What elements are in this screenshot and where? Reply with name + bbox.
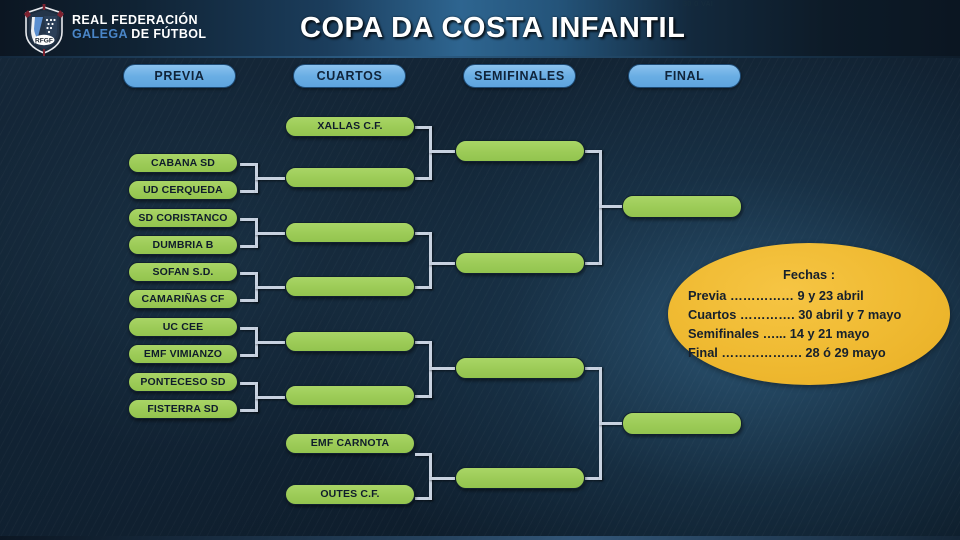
round-header-final[interactable]: FINAL [628, 64, 741, 88]
connector [255, 232, 285, 235]
final-pill-2[interactable] [622, 412, 742, 435]
cuartos-pill-3[interactable] [285, 222, 415, 243]
connector [429, 126, 432, 180]
cuartos-pill-2[interactable] [285, 167, 415, 188]
connector [599, 422, 624, 425]
dates-value-cuartos: 30 abril y 7 mayo [798, 305, 901, 324]
cuartos-pill-1-xallas-cf[interactable]: XALLAS C.F. [285, 116, 415, 137]
federation-line2-green: GALEGA [72, 27, 127, 41]
dates-label-previa: Previa …………… [688, 286, 794, 305]
team-pill-fisterra-sd[interactable]: FISTERRA SD [128, 399, 238, 419]
final-pill-1[interactable] [622, 195, 742, 218]
team-pill-emf-vimianzo[interactable]: EMF VIMIANZO [128, 344, 238, 364]
round-header-cuartos[interactable]: CUARTOS [293, 64, 406, 88]
header-band: RFGF REAL FEDERACIÓN GALEGA DE FÚTBOL CO… [0, 0, 960, 58]
round-header-semifinales[interactable]: SEMIFINALES [463, 64, 576, 88]
team-pill-dumbria-b[interactable]: DUMBRIA B [128, 235, 238, 255]
dates-label-final: Final ………………. [688, 343, 802, 362]
dates-value-previa: 9 y 23 abril [798, 286, 864, 305]
dates-row-previa: Previa …………… 9 y 23 abril [668, 286, 950, 305]
cuartos-pill-6[interactable] [285, 385, 415, 406]
round-header-previa[interactable]: PREVIA [123, 64, 236, 88]
page-title: COPA DA COSTA INFANTIL [300, 8, 680, 48]
dates-row-semifinales: Semifinales …... 14 y 21 mayo [668, 324, 950, 343]
semifinal-pill-1[interactable] [455, 140, 585, 162]
cuartos-pill-4[interactable] [285, 276, 415, 297]
team-pill-camarinas-cf[interactable]: CAMARIÑAS CF [128, 289, 238, 309]
cuartos-pill-8-outes-cf[interactable]: OUTES C.F. [285, 484, 415, 505]
dates-row-cuartos: Cuartos …………. 30 abril y 7 mayo [668, 305, 950, 324]
team-pill-sofan-sd[interactable]: SOFAN S.D. [128, 262, 238, 282]
connector [429, 262, 455, 265]
dates-content: Fechas : Previa …………… 9 y 23 abril Cuart… [668, 265, 950, 362]
connector [429, 367, 455, 370]
dates-label-semifinales: Semifinales …... [688, 324, 786, 343]
logo-badge-text: RFGF [35, 37, 53, 44]
federation-name: REAL FEDERACIÓN GALEGA DE FÚTBOL [72, 13, 206, 41]
cuartos-pill-5[interactable] [285, 331, 415, 352]
dates-title: Fechas : [668, 265, 950, 284]
federation-line1: REAL FEDERACIÓN [72, 13, 206, 27]
federation-line2: GALEGA DE FÚTBOL [72, 27, 206, 41]
team-pill-cabana-sd[interactable]: CABANA SD [128, 153, 238, 173]
connector [599, 205, 624, 208]
connector [429, 477, 455, 480]
connector [255, 341, 285, 344]
connector [255, 396, 285, 399]
ghost-artifact-text: 30 0 VAI [683, 1, 713, 8]
team-pill-ponteceso-sd[interactable]: PONTECESO SD [128, 372, 238, 392]
team-pill-uc-cee[interactable]: UC CEE [128, 317, 238, 337]
team-pill-sd-coristanco[interactable]: SD CORISTANCO [128, 208, 238, 228]
semifinal-pill-3[interactable] [455, 357, 585, 379]
cuartos-pill-7-emf-carnota[interactable]: EMF CARNOTA [285, 433, 415, 454]
dates-value-final: 28 ó 29 mayo [805, 343, 885, 362]
connector [429, 232, 432, 289]
dates-label-cuartos: Cuartos …………. [688, 305, 795, 324]
semifinal-pill-4[interactable] [455, 467, 585, 489]
dates-row-final: Final ………………. 28 ó 29 mayo [668, 343, 950, 362]
connector [255, 286, 285, 289]
semifinal-pill-2[interactable] [455, 252, 585, 274]
bracket-canvas: RFGF REAL FEDERACIÓN GALEGA DE FÚTBOL CO… [0, 0, 960, 540]
team-pill-ud-cerqueda[interactable]: UD CERQUEDA [128, 180, 238, 200]
federation-line2-white: DE FÚTBOL [127, 27, 206, 41]
connector [429, 150, 455, 153]
connector [255, 177, 285, 180]
dates-panel: Fechas : Previa …………… 9 y 23 abril Cuart… [668, 243, 950, 385]
dates-value-semifinales: 14 y 21 mayo [790, 324, 870, 343]
rfgf-shield-logo: RFGF [18, 4, 70, 56]
